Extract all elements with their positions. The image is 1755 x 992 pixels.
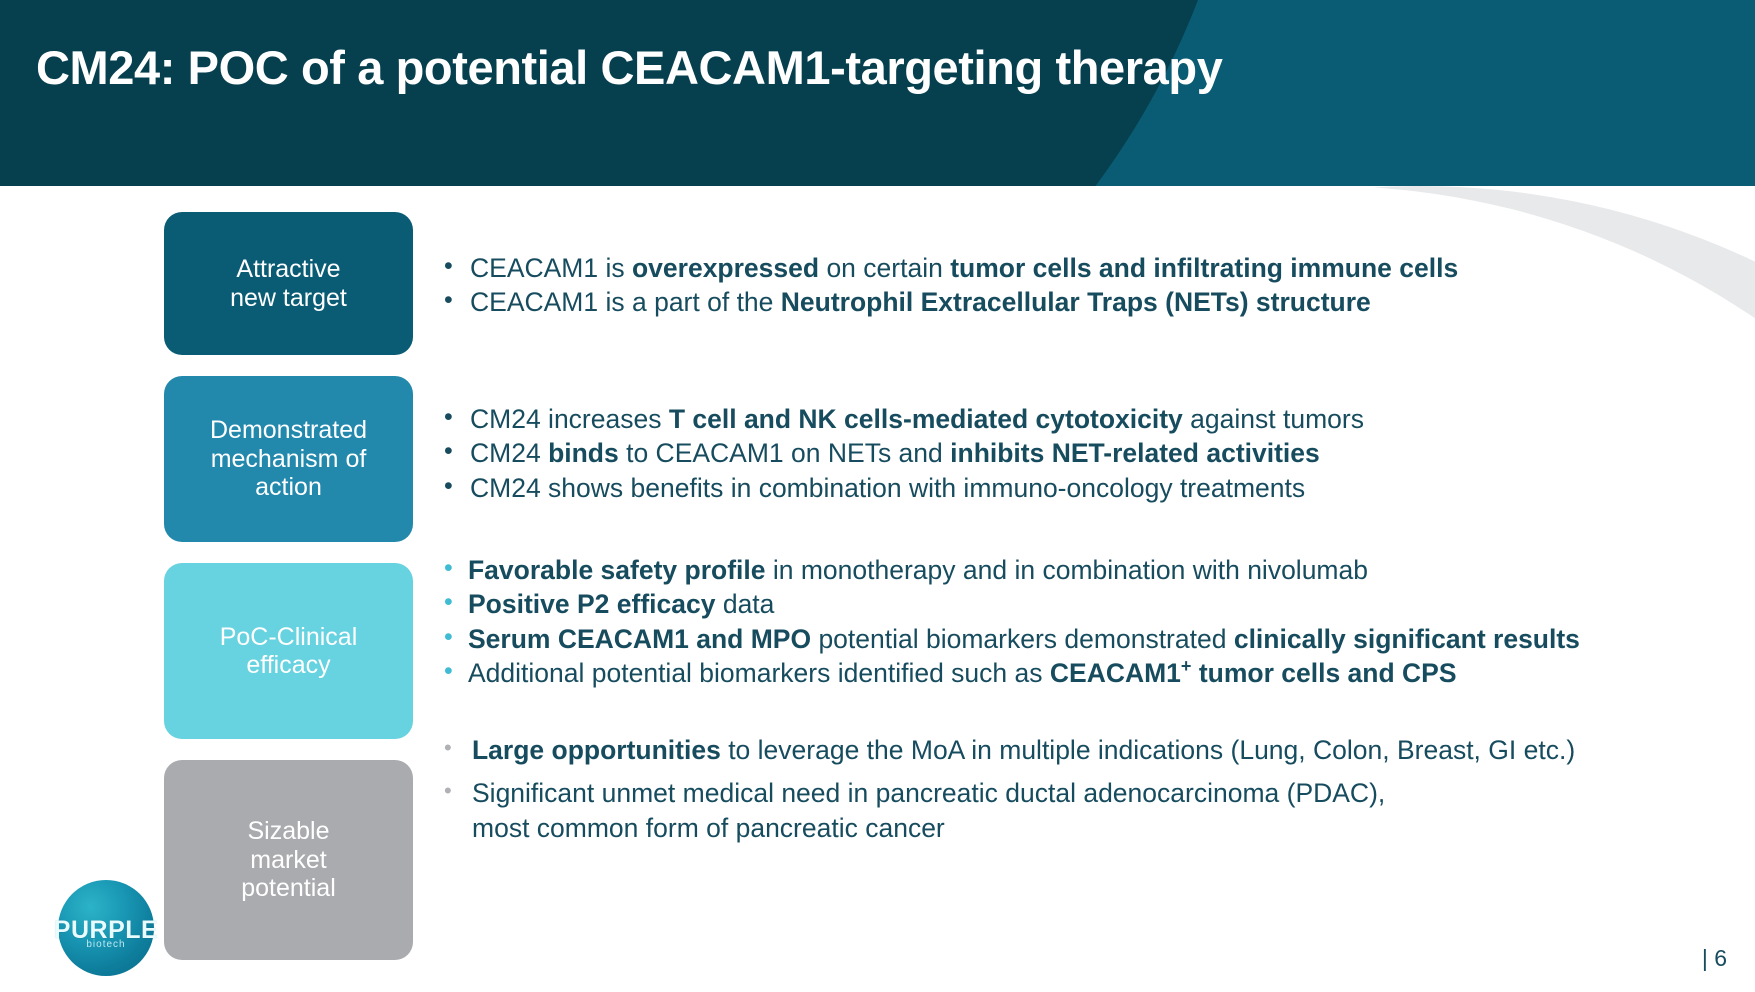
bullet-list: CEACAM1 is overexpressed on certain tumo… — [440, 251, 1458, 320]
category-box-attractive-new-target[interactable]: Attractivenew target — [164, 212, 413, 355]
bullet-item: CEACAM1 is overexpressed on certain tumo… — [440, 251, 1458, 285]
bullet-list: Favorable safety profile in monotherapy … — [440, 553, 1580, 691]
category-box-label: Attractivenew target — [230, 255, 347, 312]
category-box-column: Attractivenew target Demonstratedmechani… — [164, 212, 413, 960]
page-title: CM24: POC of a potential CEACAM1-targeti… — [36, 40, 1222, 95]
bullet-item: Positive P2 efficacy data — [440, 587, 1580, 621]
bullet-item: CEACAM1 is a part of the Neutrophil Extr… — [440, 285, 1458, 319]
category-box-label: Demonstratedmechanism ofaction — [210, 416, 367, 502]
logo-subtitle: biotech — [49, 939, 163, 950]
bullet-item: Serum CEACAM1 and MPO potential biomarke… — [440, 622, 1580, 656]
bullet-list: CM24 increases T cell and NK cells-media… — [440, 402, 1364, 505]
bullet-item: CM24 shows benefits in combination with … — [440, 471, 1364, 505]
category-box-label: Sizablemarketpotential — [241, 817, 336, 903]
purple-biotech-logo[interactable]: PURPLE biotech — [58, 880, 154, 976]
bullet-item: Additional potential biomarkers identifi… — [440, 656, 1580, 690]
bullet-item: CM24 increases T cell and NK cells-media… — [440, 402, 1364, 436]
bullet-item: Significant unmet medical need in pancre… — [440, 776, 1575, 846]
page-number: | 6 — [1702, 945, 1727, 972]
category-box-demonstrated-mechanism-of-action[interactable]: Demonstratedmechanism ofaction — [164, 376, 413, 542]
bullet-group-poc-clinical-efficacy: Favorable safety profile in monotherapy … — [440, 553, 1580, 691]
bullet-group-sizable-market-potential: Large opportunities to leverage the MoA … — [440, 733, 1575, 855]
bullet-item: Favorable safety profile in monotherapy … — [440, 553, 1580, 587]
slide-canvas: CM24: POC of a potential CEACAM1-targeti… — [0, 0, 1755, 992]
category-box-label: PoC-Clinicalefficacy — [220, 623, 358, 680]
bullet-item: Large opportunities to leverage the MoA … — [440, 733, 1575, 768]
slide-header: CM24: POC of a potential CEACAM1-targeti… — [0, 0, 1755, 186]
bullet-item: CM24 binds to CEACAM1 on NETs and inhibi… — [440, 436, 1364, 470]
bullet-group-attractive-new-target: CEACAM1 is overexpressed on certain tumo… — [440, 251, 1458, 320]
bullet-list: Large opportunities to leverage the MoA … — [440, 733, 1575, 847]
category-box-sizable-market-potential[interactable]: Sizablemarketpotential — [164, 760, 413, 960]
bullet-group-demonstrated-mechanism-of-action: CM24 increases T cell and NK cells-media… — [440, 402, 1364, 505]
category-box-poc-clinical-efficacy[interactable]: PoC-Clinicalefficacy — [164, 563, 413, 739]
